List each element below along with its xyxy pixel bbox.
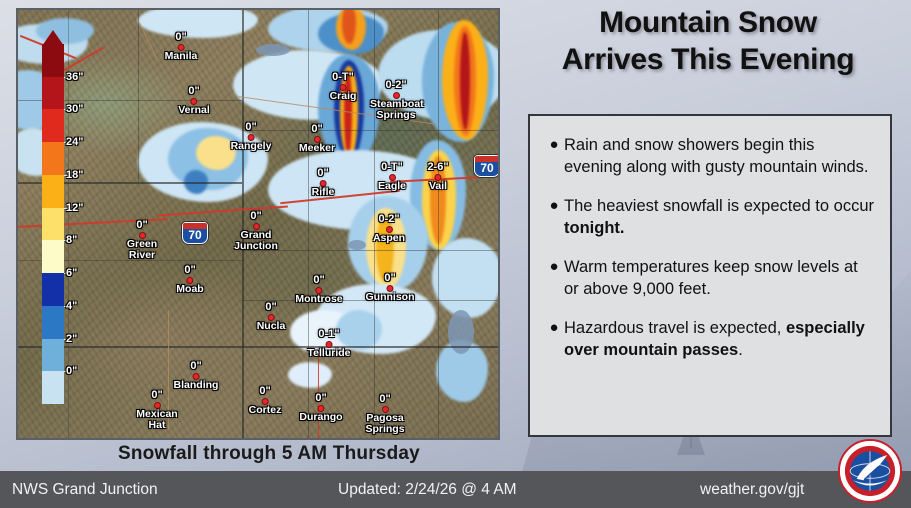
footer-office: NWS Grand Junction <box>12 481 158 499</box>
colorbar-segment <box>42 371 64 404</box>
colorbar-segment <box>42 142 64 175</box>
colorbar-tick-label: 0" <box>66 365 77 377</box>
key-message-text: Rain and snow showers begin this evening… <box>564 134 874 178</box>
shield-number: 70 <box>188 228 201 243</box>
key-message-item: ●Rain and snow showers begin this evenin… <box>544 134 874 178</box>
key-message-item: ●Warm temperatures keep snow levels at o… <box>544 256 874 300</box>
colorbar-segment <box>42 77 64 110</box>
footer-bar: NWS Grand Junction Updated: 2/24/26 @ 4 … <box>0 471 911 508</box>
snow-band <box>288 362 332 388</box>
lake <box>256 44 290 56</box>
colorbar-segment <box>42 306 64 339</box>
snow-band <box>196 136 236 170</box>
key-message-item: ●The heaviest snowfall is expected to oc… <box>544 195 874 239</box>
county-border <box>308 10 309 440</box>
key-message-text: Warm temperatures keep snow levels at or… <box>564 256 874 300</box>
title-line-2: Arrives This Evening <box>512 41 904 78</box>
colorbar-segment <box>42 208 64 241</box>
snow-amount-colorbar: Storm Total Snow Amounts (in) 36"30"24"1… <box>22 20 78 420</box>
snowfall-map[interactable]: 70 70 0"Manila0"Vernal0"Rangely0"Meeker0… <box>16 8 500 440</box>
interstate-shield-70: 70 <box>182 222 208 244</box>
key-messages-panel: ●Rain and snow showers begin this evenin… <box>528 114 892 437</box>
state-border <box>242 10 244 440</box>
colorbar-tick-label: 6" <box>66 267 77 279</box>
bullet-icon: ● <box>544 195 564 239</box>
bullet-icon: ● <box>544 134 564 178</box>
key-message-item: ●Hazardous travel is expected, especiall… <box>544 317 874 361</box>
colorbar-tick-label: 30" <box>66 103 83 115</box>
colorbar-segment <box>42 240 64 273</box>
road-line <box>168 310 169 430</box>
colorbar-segment <box>42 339 64 372</box>
shield-number: 70 <box>480 161 493 176</box>
county-border <box>242 130 500 131</box>
colorbar-tick-label: 8" <box>66 234 77 246</box>
title-line-1: Mountain Snow <box>512 4 904 41</box>
nws-logo-icon: NATIONALWEATHERSERVICE <box>837 438 903 504</box>
colorbar-tick-label: 4" <box>66 300 77 312</box>
colorbar-segment <box>42 109 64 142</box>
colorbar-segment <box>42 273 64 306</box>
colorbar-gradient <box>42 44 64 404</box>
footer-updated: Updated: 2/24/26 @ 4 AM <box>338 481 517 499</box>
county-border <box>138 10 139 182</box>
colorbar-segment <box>42 44 64 77</box>
county-border <box>242 300 500 301</box>
bullet-icon: ● <box>544 256 564 300</box>
county-border <box>374 10 375 440</box>
weather-graphic: 70 70 0"Manila0"Vernal0"Rangely0"Meeker0… <box>0 0 911 508</box>
county-border <box>242 250 500 251</box>
snow-band <box>336 310 382 350</box>
colorbar-tick-label: 12" <box>66 202 83 214</box>
bullet-icon: ● <box>544 317 564 361</box>
snow-band <box>344 70 352 156</box>
interstate-shield-70: 70 <box>474 155 500 177</box>
colorbar-segment <box>42 175 64 208</box>
key-message-text: The heaviest snowfall is expected to occ… <box>564 195 874 239</box>
colorbar-tick-label: 24" <box>66 136 83 148</box>
snow-band <box>376 216 394 282</box>
county-border <box>438 10 439 440</box>
snow-band <box>460 32 470 130</box>
footer-website[interactable]: weather.gov/gjt <box>700 481 804 499</box>
key-message-text: Hazardous travel is expected, especially… <box>564 317 874 361</box>
road-line <box>318 350 319 440</box>
colorbar-tick-label: 36" <box>66 71 83 83</box>
colorbar-tick-label: 18" <box>66 169 83 181</box>
page-title: Mountain Snow Arrives This Evening <box>512 4 904 78</box>
state-border <box>18 346 500 348</box>
map-caption: Snowfall through 5 AM Thursday <box>118 443 420 465</box>
lake <box>348 240 366 250</box>
colorbar-tick-label: 2" <box>66 333 77 345</box>
